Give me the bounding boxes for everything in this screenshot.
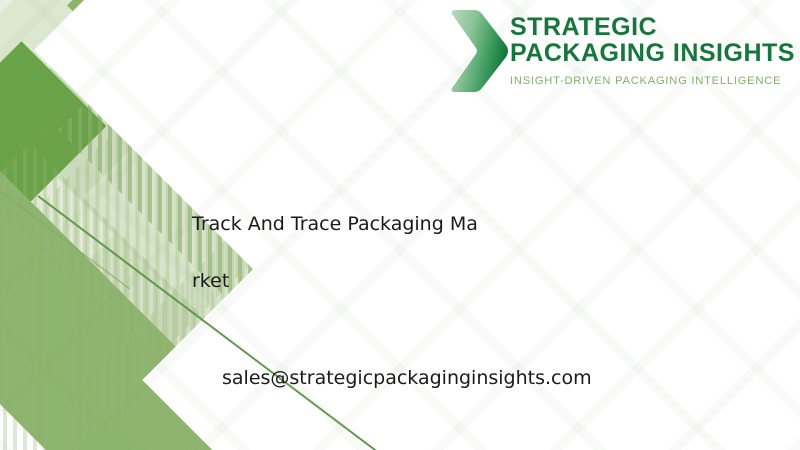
page-title-line-1: Track And Trace Packaging Ma bbox=[192, 215, 478, 234]
contact-email: sales@strategicpackaginginsights.com bbox=[222, 369, 592, 388]
page-title-line-2: rket bbox=[192, 272, 229, 291]
chevron-mark-icon bbox=[448, 8, 510, 94]
logo-brand-line-2: PACKAGING INSIGHTS bbox=[510, 40, 778, 66]
logo-wordmark: STRATEGIC PACKAGING INSIGHTS INSIGHT-DRI… bbox=[510, 14, 778, 87]
logo-tagline: INSIGHT-DRIVEN PACKAGING INTELLIGENCE bbox=[510, 75, 778, 87]
company-logo: STRATEGIC PACKAGING INSIGHTS INSIGHT-DRI… bbox=[448, 6, 778, 96]
logo-brand-line-1: STRATEGIC bbox=[510, 14, 778, 40]
slide-canvas: STRATEGIC PACKAGING INSIGHTS INSIGHT-DRI… bbox=[0, 0, 800, 450]
